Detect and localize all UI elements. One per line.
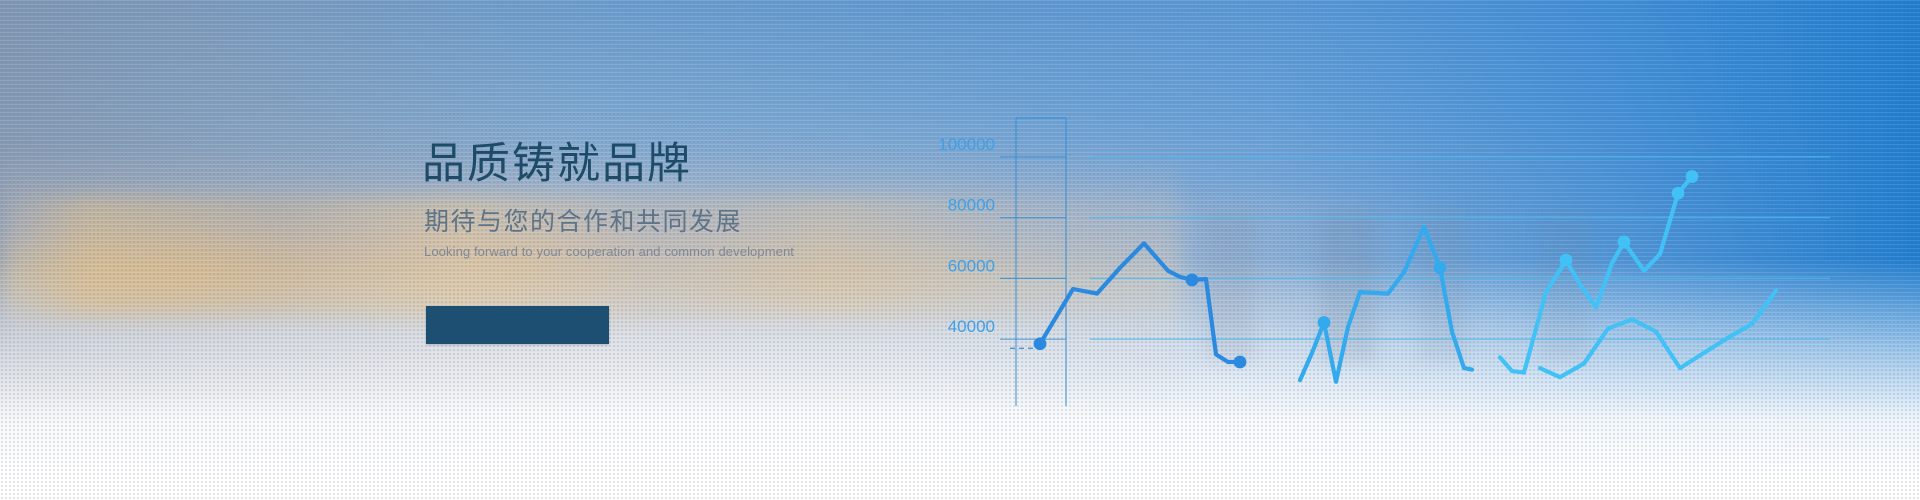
y-axis-tick-label: 80000 xyxy=(948,196,995,215)
chart-series-line xyxy=(1040,243,1240,362)
chart-data-point xyxy=(1318,316,1331,329)
chart-series-line xyxy=(1300,227,1472,382)
chart-data-point xyxy=(1434,261,1447,274)
chart-data-point xyxy=(1034,337,1047,350)
chart-data-point xyxy=(1234,356,1247,369)
chart-data-point xyxy=(1686,170,1699,183)
y-axis-tick-label: 100000 xyxy=(938,135,995,154)
y-axis-tick-label: 60000 xyxy=(948,256,995,275)
chart-data-point xyxy=(1186,274,1199,287)
banner-english-tagline: Looking forward to your cooperation and … xyxy=(424,244,842,259)
growth-line-chart: 400006000080000100000 xyxy=(0,0,1920,500)
cta-button[interactable] xyxy=(426,306,609,344)
y-axis-tick-label: 40000 xyxy=(948,317,995,336)
banner-subheadline: 期待与您的合作和共同发展 xyxy=(424,209,842,237)
chart-data-point xyxy=(1618,236,1631,249)
hero-banner: 400006000080000100000 品质铸就品牌 期待与您的合作和共同发… xyxy=(0,0,1920,500)
banner-headline: 品质铸就品牌 xyxy=(422,142,842,187)
chart-data-point xyxy=(1560,254,1573,267)
chart-data-point xyxy=(1672,187,1685,200)
banner-text-block: 品质铸就品牌 期待与您的合作和共同发展 Looking forward to y… xyxy=(422,142,842,259)
chart-series-line xyxy=(1540,291,1776,378)
